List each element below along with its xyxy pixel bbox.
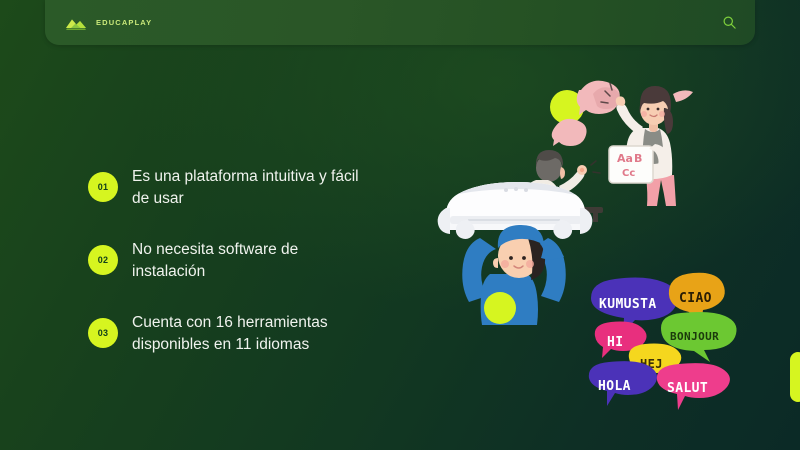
accent-dot-icon <box>484 292 516 324</box>
svg-text:KUMUSTA: KUMUSTA <box>599 297 657 312</box>
speech-bubble-cluster: KUMUSTA CIAO BONJOUR HI HEJ <box>585 268 745 413</box>
feature-badge-1: 01 <box>88 172 118 202</box>
feature-text-1: Es una plataforma intuitiva y fácil de u… <box>132 166 364 210</box>
svg-text:HOLA: HOLA <box>598 379 631 394</box>
feature-item-3: 03 Cuenta con 16 herramientas disponible… <box>88 312 388 356</box>
search-icon <box>722 15 737 30</box>
edge-accent-pill <box>790 352 800 402</box>
svg-text:BONJOUR: BONJOUR <box>670 330 719 343</box>
svg-text:Cc: Cc <box>622 168 635 179</box>
brand[interactable]: EDUCAPLAY <box>65 0 152 45</box>
svg-text:HI: HI <box>607 335 623 350</box>
mountain-logo-icon <box>65 15 87 31</box>
speech-bubble-hola: HOLA <box>589 361 657 406</box>
feature-list: 01 Es una plataforma intuitiva y fácil d… <box>88 166 388 356</box>
svg-text:Aa: Aa <box>617 152 633 165</box>
feature-text-3: Cuenta con 16 herramientas disponibles e… <box>132 312 364 356</box>
slide-canvas: EDUCAPLAY 01 Es una plataforma intuitiva… <box>0 0 800 450</box>
search-button[interactable] <box>722 0 737 45</box>
feature-text-2: No necesita software de instalación <box>132 239 364 283</box>
speech-bubble-salut: SALUT <box>657 363 730 410</box>
svg-text:B: B <box>634 152 642 165</box>
header-bar: EDUCAPLAY <box>45 0 755 45</box>
brand-name: EDUCAPLAY <box>96 18 152 27</box>
technician-holding-unit-illustration <box>428 150 603 325</box>
svg-text:CIAO: CIAO <box>679 291 712 306</box>
feature-item-2: 02 No necesita software de instalación <box>88 239 388 283</box>
feature-item-1: 01 Es una plataforma intuitiva y fácil d… <box>88 166 388 210</box>
feature-badge-2: 02 <box>88 245 118 275</box>
svg-text:SALUT: SALUT <box>667 381 708 396</box>
feature-badge-3: 03 <box>88 318 118 348</box>
